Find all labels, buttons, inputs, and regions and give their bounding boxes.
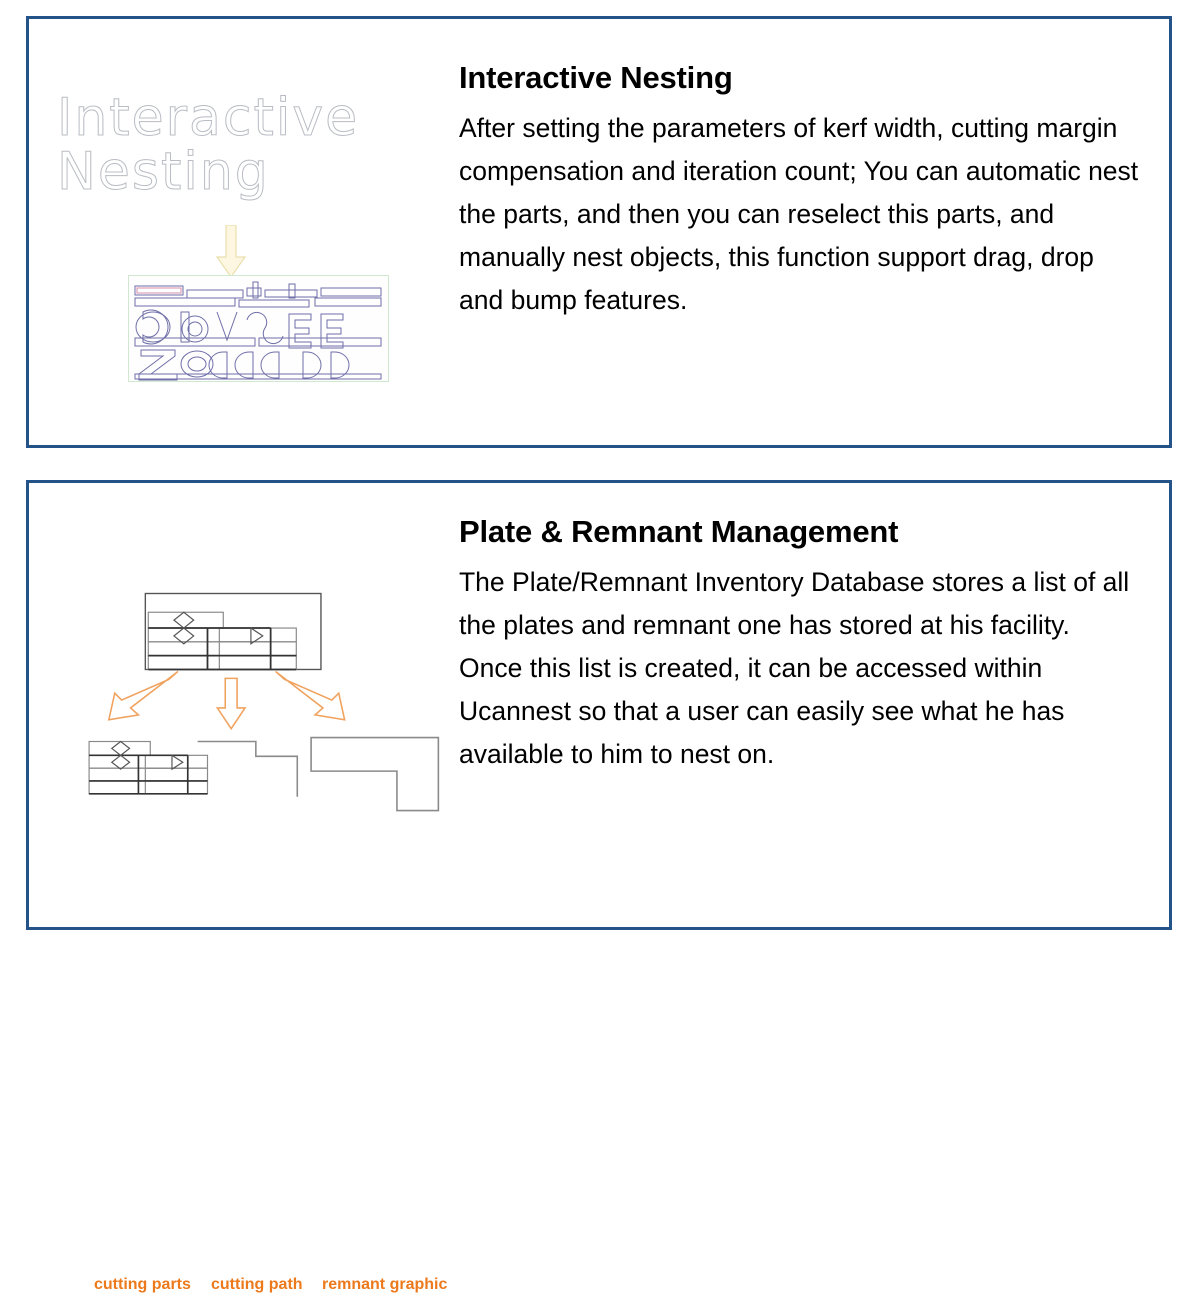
interactive-nesting-text: Interactive Nesting After setting the pa… xyxy=(459,19,1169,322)
plate-remnant-diagram xyxy=(29,483,459,927)
panel-body-interactive-nesting: After setting the parameters of kerf wid… xyxy=(459,107,1139,322)
page-title-plate-remnant: Plate & Remnant Management xyxy=(459,515,1139,549)
outline-text-line-1: Interactive xyxy=(57,88,359,148)
interactive-nesting-illustration: InteractiveNesting xyxy=(29,19,459,445)
outline-text-interactive-nesting: InteractiveNesting xyxy=(57,91,457,199)
outline-text-line-2: Nesting xyxy=(57,142,270,202)
plate-remnant-text: Plate & Remnant Management The Plate/Rem… xyxy=(459,483,1169,776)
feature-panel-interactive-nesting: InteractiveNesting xyxy=(26,16,1172,448)
panel-body-plate-remnant-2: Once this list is created, it can be acc… xyxy=(459,647,1139,776)
label-cutting-parts: cutting parts xyxy=(94,1276,191,1294)
page-title-interactive-nesting: Interactive Nesting xyxy=(459,61,1139,95)
feature-panel-plate-remnant-management: cutting parts cutting path remnant graph… xyxy=(26,480,1172,930)
panel-body-plate-remnant-1: The Plate/Remnant Inventory Database sto… xyxy=(459,561,1139,647)
nested-parts-result xyxy=(128,275,389,382)
label-cutting-path: cutting path xyxy=(211,1276,303,1294)
plate-remnant-illustration: cutting parts cutting path remnant graph… xyxy=(29,483,459,927)
label-remnant-graphic: remnant graphic xyxy=(322,1276,447,1294)
